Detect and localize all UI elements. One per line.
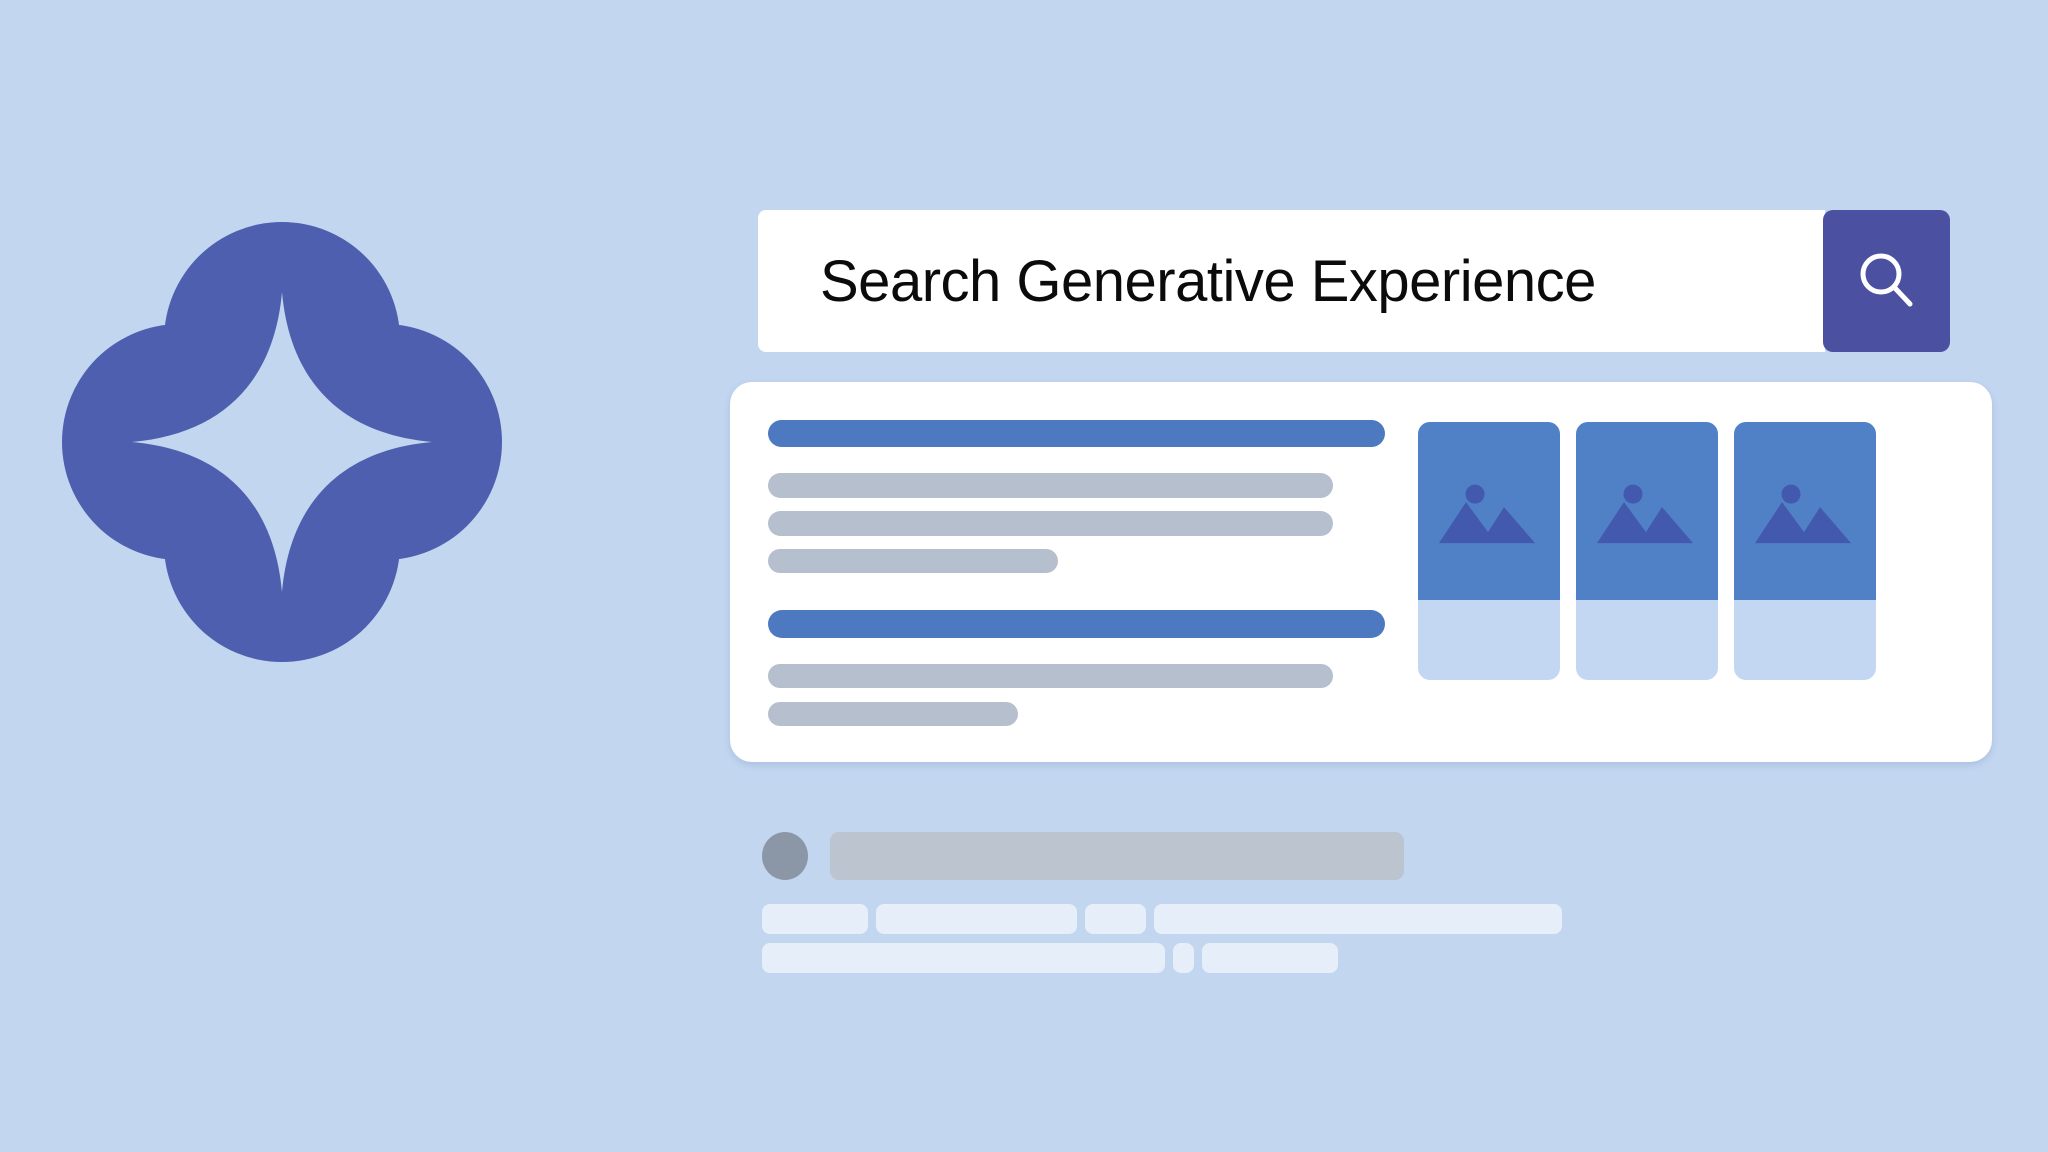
logo-petals: [62, 222, 502, 662]
search-results-card: [730, 382, 1992, 762]
thumbnail-image-area: [1418, 422, 1560, 600]
avatar-row: [762, 832, 1562, 880]
search-input[interactable]: Search Generative Experience: [758, 210, 1825, 352]
chip[interactable]: [762, 904, 868, 934]
chip-row-2: [762, 943, 1562, 973]
illustration-stage: Search Generative Experience: [0, 0, 2048, 1152]
thumbnail-strip: [1388, 420, 1956, 726]
search-icon: [1850, 244, 1924, 318]
chip[interactable]: [762, 943, 1165, 973]
thumbnail-image-area: [1734, 422, 1876, 600]
chip[interactable]: [1173, 943, 1194, 973]
chip[interactable]: [1202, 943, 1338, 973]
results-skeleton-column: [768, 420, 1388, 726]
image-placeholder-2[interactable]: [1576, 422, 1718, 680]
result-title-skeleton[interactable]: [768, 610, 1385, 637]
result-title-skeleton[interactable]: [768, 420, 1385, 447]
result-line-skeleton: [768, 473, 1333, 497]
sparkle-quatrefoil-logo: [62, 222, 502, 662]
result-line-skeleton: [768, 702, 1018, 726]
thumbnail-image-area: [1576, 422, 1718, 600]
chip[interactable]: [1085, 904, 1146, 934]
search-input-value: Search Generative Experience: [820, 248, 1596, 315]
secondary-result-skeleton: [762, 832, 1562, 973]
chip[interactable]: [1154, 904, 1562, 934]
chip[interactable]: [876, 904, 1076, 934]
search-bar[interactable]: Search Generative Experience: [758, 210, 1950, 352]
chip-row-1: [762, 904, 1562, 934]
avatar-title-skeleton: [830, 832, 1404, 880]
avatar: [762, 832, 808, 880]
result-line-skeleton: [768, 549, 1058, 573]
result-line-skeleton: [768, 664, 1333, 688]
image-placeholder-1[interactable]: [1418, 422, 1560, 680]
search-button[interactable]: [1823, 210, 1950, 352]
image-placeholder-3[interactable]: [1734, 422, 1876, 680]
result-line-skeleton: [768, 511, 1333, 535]
